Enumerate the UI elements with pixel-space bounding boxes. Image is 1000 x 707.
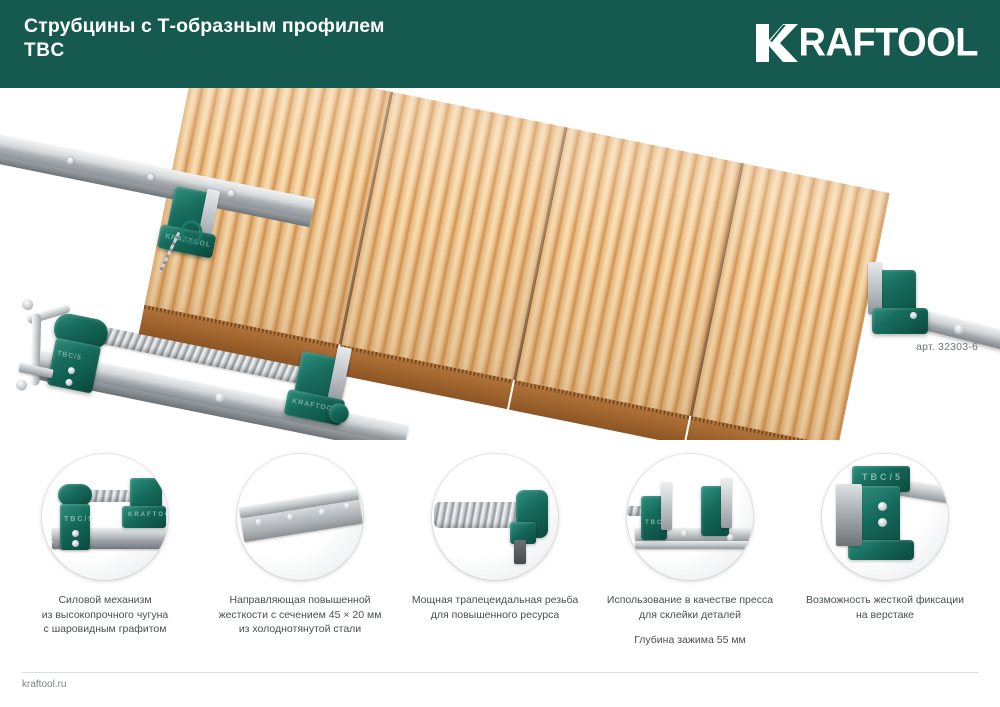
feature-caption: Направляющая повышенной жесткости с сече… bbox=[200, 593, 400, 637]
feature-caption: Использование в качестве пресса для скле… bbox=[590, 593, 790, 622]
feature-row: TBC/5 KRAFTOOL Силовой механизм из высок… bbox=[0, 440, 1000, 655]
press-jaws-icon: TBC bbox=[627, 454, 753, 580]
title-block: Струбцины с Т-образным профилем TBC bbox=[24, 14, 384, 63]
clamp-head-right bbox=[862, 264, 1000, 374]
footer-divider bbox=[22, 672, 978, 673]
clamp-mechanism-icon: TBC/5 KRAFTOOL bbox=[42, 454, 168, 580]
kraftool-k-icon bbox=[756, 22, 798, 64]
clamp-head-upper: KRAFTOOL bbox=[124, 180, 264, 312]
feature-subcaption: Глубина зажима 55 мм bbox=[590, 633, 790, 648]
t-profile-rail-icon bbox=[237, 454, 363, 580]
feature-caption: Мощная трапецеидальная резьба для повыше… bbox=[395, 593, 595, 622]
feature-item: TBC/5 Возможность жесткой фиксации на ве… bbox=[785, 440, 985, 655]
page-header: Струбцины с Т-образным профилем TBC RAFT… bbox=[0, 0, 1000, 88]
kraftool-wordmark: RAFTOOL bbox=[799, 23, 978, 63]
footer-website: kraftool.ru bbox=[22, 679, 66, 690]
product-datasheet: Струбцины с Т-образным профилем TBC RAFT… bbox=[0, 0, 1000, 707]
page-title: Струбцины с Т-образным профилем bbox=[24, 14, 384, 39]
hero-image: KRAFTOOL TBC/5 bbox=[0, 88, 1000, 440]
feature-caption: Возможность жесткой фиксации на верстаке bbox=[785, 593, 985, 622]
article-number: арт. 32303-6 bbox=[916, 341, 978, 353]
feature-item: Мощная трапецеидальная резьба для повыше… bbox=[395, 440, 595, 655]
bench-mount-icon: TBC/5 bbox=[822, 454, 948, 580]
trapezoid-thread-icon bbox=[432, 454, 558, 580]
feature-item: TBC Использование в качестве пресса для … bbox=[590, 440, 790, 655]
product-model: TBC bbox=[24, 39, 384, 63]
feature-item: TBC/5 KRAFTOOL Силовой механизм из высок… bbox=[5, 440, 205, 655]
feature-caption: Силовой механизм из высокопрочного чугун… bbox=[5, 593, 205, 637]
feature-item: Направляющая повышенной жесткости с сече… bbox=[200, 440, 400, 655]
kraftool-logo: RAFTOOL bbox=[756, 21, 978, 65]
